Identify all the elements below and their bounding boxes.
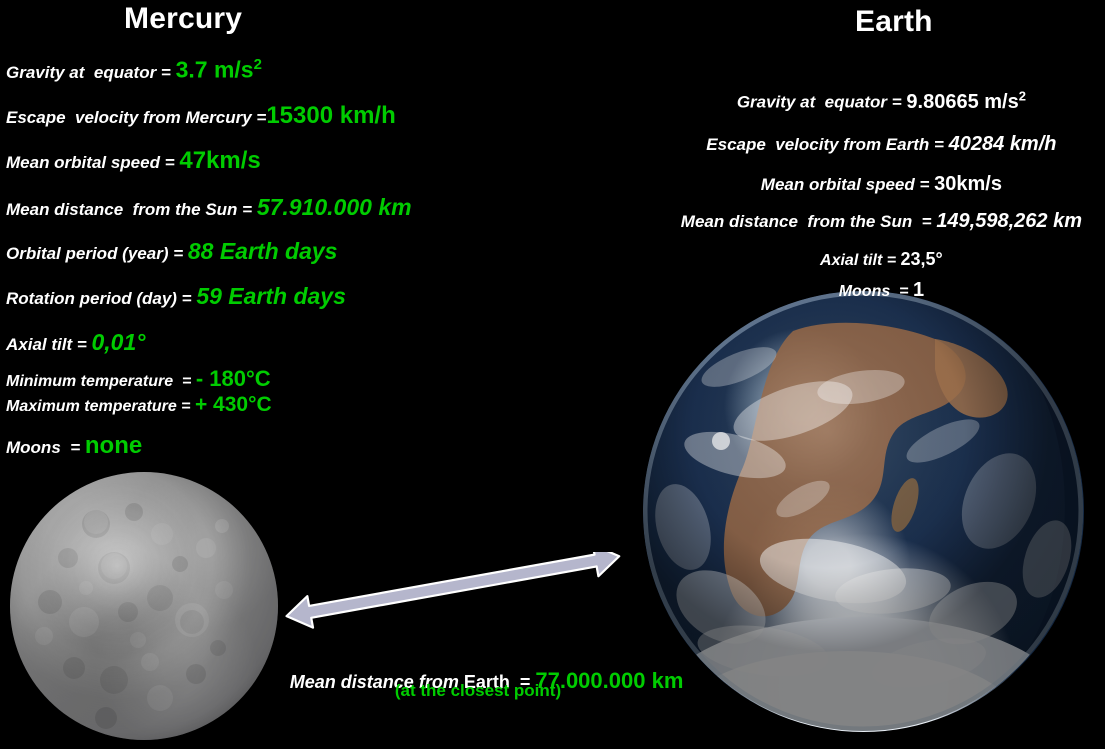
mercury-fact-value: 47km/s (179, 147, 260, 175)
mercury-fact-orbital-period: Orbital period (year) = 88 Earth days (6, 238, 337, 265)
planet-comparison-slide: Mercury Gravity at equator = 3.7 m/s2 Es… (0, 0, 1105, 749)
mercury-fact-value: + 430°C (195, 393, 272, 417)
mercury-fact-gravity: Gravity at equator = 3.7 m/s2 (6, 56, 262, 84)
mercury-fact-label: Orbital period (year) = (6, 244, 188, 264)
earth-fact-value: 1 (913, 279, 924, 301)
earth-fact-value: 149,598,262 km (936, 210, 1082, 232)
earth-fact-label: Gravity at equator = (737, 93, 907, 112)
mercury-fact-label: Mean distance from the Sun = (6, 200, 257, 220)
mercury-fact-label: Gravity at equator = (6, 63, 176, 83)
distance-arrow (270, 552, 640, 644)
earth-fact-label: Mean distance from the Sun = (681, 212, 937, 231)
mercury-surface-texture (10, 472, 278, 740)
earth-fact-value: 9.80665 m/s2 (906, 91, 1026, 113)
mercury-fact-axial-tilt: Axial tilt = 0,01° (6, 329, 145, 356)
mercury-fact-escape-velocity: Escape velocity from Mercury =15300 km/h (6, 102, 396, 130)
mercury-fact-label: Escape velocity from Mercury = (6, 108, 266, 128)
mercury-title: Mercury (124, 2, 242, 36)
exponent: 2 (254, 56, 262, 73)
mercury-fact-value: 3.7 m/s2 (176, 56, 262, 84)
mercury-fact-value: 88 Earth days (188, 238, 338, 265)
mercury-fact-moons: Moons = none (6, 432, 142, 460)
mercury-fact-max-temperature: Maximum temperature = + 430°C (6, 393, 272, 417)
mercury-fact-distance-sun: Mean distance from the Sun = 57.910.000 … (6, 194, 412, 221)
caption-subtext: (at the closest point) (272, 681, 684, 701)
mercury-fact-value: 57.910.000 km (257, 194, 412, 221)
earth-fact-moons: Moons = 1 (640, 261, 1105, 320)
mercury-fact-label: Rotation period (day) = (6, 289, 196, 309)
mercury-fact-label: Minimum temperature = (6, 373, 196, 391)
mercury-fact-label: Maximum temperature = (6, 398, 195, 416)
mercury-fact-label: Moons = (6, 438, 85, 458)
mercury-fact-value: 59 Earth days (196, 283, 346, 310)
mercury-fact-orbital-speed: Mean orbital speed = 47km/s (6, 147, 261, 175)
earth-title: Earth (855, 5, 933, 39)
mercury-sphere-image (10, 472, 278, 740)
earth-sphere-image (643, 291, 1084, 732)
mercury-fact-label: Mean orbital speed = (6, 153, 179, 173)
earth-fact-label: Moons = (839, 283, 913, 300)
mercury-fact-value: 0,01° (92, 329, 146, 356)
mercury-fact-label: Axial tilt = (6, 335, 92, 355)
earth-fact-value: 40284 km/h (949, 133, 1057, 155)
mercury-fact-min-temperature: Minimum temperature = - 180°C (6, 366, 271, 392)
earth-fact-label: Escape velocity from Earth = (706, 135, 948, 154)
earth-surface-texture (643, 291, 1084, 732)
mercury-fact-value: none (85, 432, 142, 460)
mercury-fact-rotation-period: Rotation period (day) = 59 Earth days (6, 283, 346, 310)
exponent: 2 (1019, 88, 1026, 103)
mercury-fact-value: 15300 km/h (266, 102, 395, 130)
mercury-fact-value: - 180°C (196, 366, 271, 392)
